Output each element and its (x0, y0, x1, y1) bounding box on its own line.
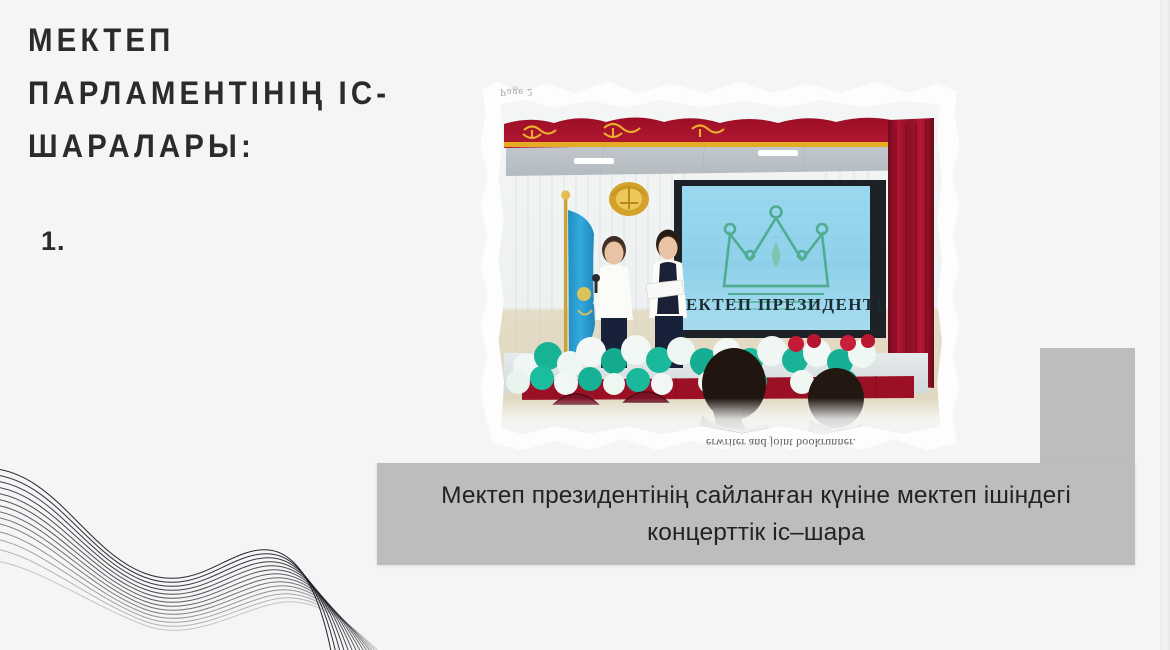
presentation-slide: МЕКТЕП ПАРЛАМЕНТІНІҢ ІС- ШАРАЛАРЫ: 1. Pa… (0, 0, 1170, 650)
assembly-hall-photo: МЕКТЕП ПРЕЗИДЕНТІ (496, 98, 944, 436)
wave-decoration (0, 438, 394, 650)
caption-accent-block (1040, 348, 1135, 466)
page-title: МЕКТЕП ПАРЛАМЕНТІНІҢ ІС- ШАРАЛАРЫ: (28, 14, 448, 173)
photo-caption: Мектеп президентінің сайланған күніне ме… (377, 463, 1135, 565)
list-item-number: 1. (41, 226, 66, 257)
scan-artifact-top-text: Page 2 (500, 86, 533, 98)
photo-image: МЕКТЕП ПРЕЗИДЕНТІ (496, 98, 944, 436)
scan-artifact-bottom-text: erwriter and joint bookrunner. (706, 435, 856, 450)
title-line-2: ПАРЛАМЕНТІНІҢ ІС- (28, 67, 414, 120)
title-line-1: МЕКТЕП (28, 14, 414, 67)
photo-frame: Page 2 (478, 78, 962, 454)
caption-text: Мектеп президентінің сайланған күніне ме… (391, 477, 1121, 551)
screen-caption-text: МЕКТЕП ПРЕЗИДЕНТІ (668, 295, 883, 314)
title-line-3: ШАРАЛАРЫ: (28, 120, 414, 173)
